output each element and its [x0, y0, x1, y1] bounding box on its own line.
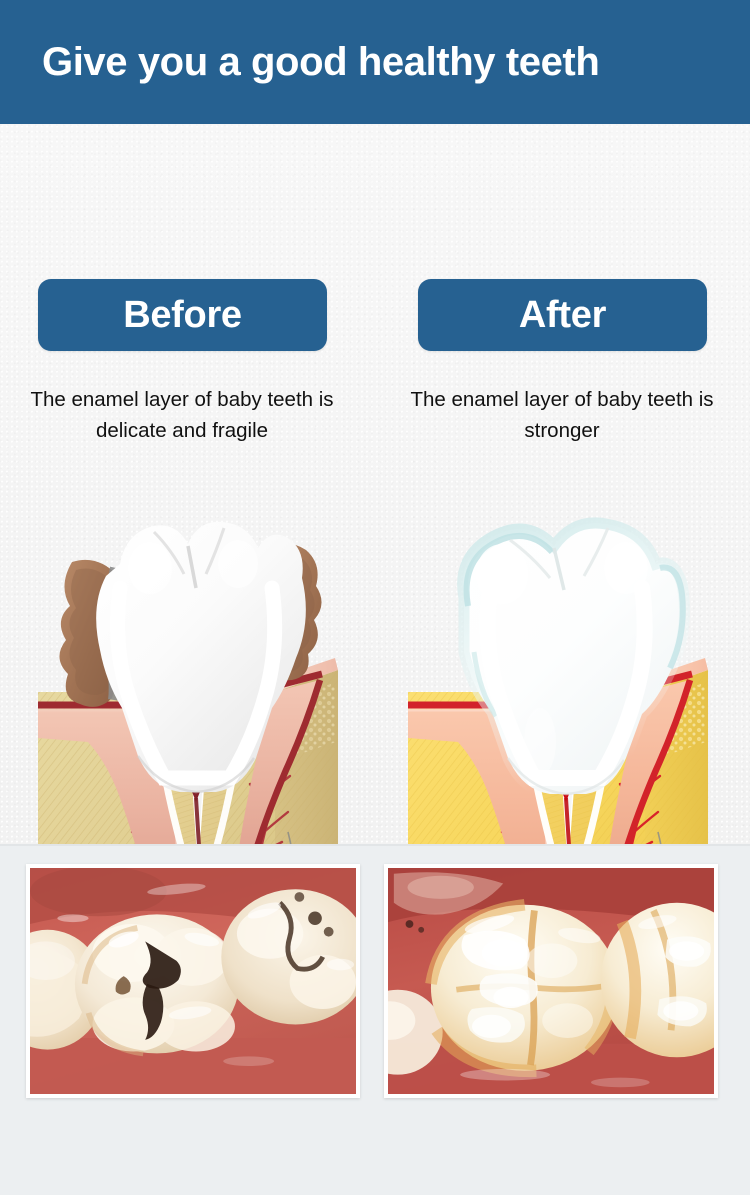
photo-card-crystallizing: [26, 864, 360, 1098]
infographic-page: Give you a good healthy teeth Before Aft…: [0, 0, 750, 1195]
caption-after: The enamel layer of baby teeth is strong…: [392, 384, 732, 446]
header-banner: Give you a good healthy teeth: [0, 0, 750, 124]
before-after-comparison-section: Before After The enamel layer of baby te…: [0, 124, 750, 844]
clinical-photo-section: crystallizing Mineralized mottled crysta…: [0, 844, 750, 1195]
badge-before-label: Before: [123, 294, 242, 337]
badge-after: After: [418, 279, 707, 351]
photo-card-mineralized: [384, 864, 718, 1098]
clinical-photo-molar-with-fissure-cavity: [30, 868, 356, 1094]
badge-before: Before: [38, 279, 327, 351]
badge-after-label: After: [519, 294, 606, 337]
page-title: Give you a good healthy teeth: [42, 40, 599, 85]
clinical-photo-molar-mineralized-surface: [388, 868, 714, 1094]
caption-before: The enamel layer of baby teeth is delica…: [12, 384, 352, 446]
